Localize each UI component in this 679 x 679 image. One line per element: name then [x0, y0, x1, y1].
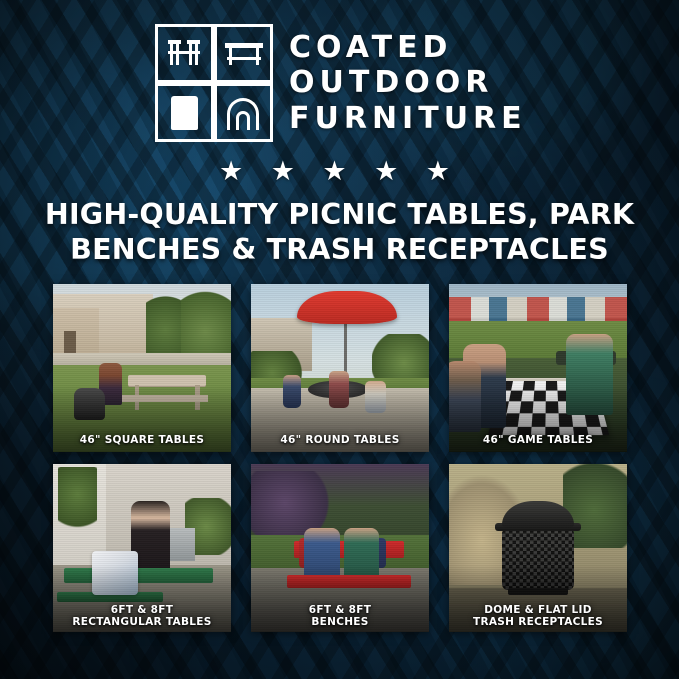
gallery-caption-line-1: 6FT & 8FT [255, 604, 425, 616]
headline-line-2: BENCHES & TRASH RECEPTACLES [0, 233, 679, 268]
brand-name-line-2: OUTDOOR [289, 65, 527, 100]
gallery-item-square-tables[interactable]: 46" SQUARE TABLES [53, 284, 231, 452]
gallery-item-game-tables[interactable]: 46" GAME TABLES [449, 284, 627, 452]
gallery-caption-line-1: DOME & FLAT LID [453, 604, 623, 616]
brand-logo: COATED OUTDOOR FURNITURE [155, 24, 535, 144]
trash-receptacle-icon [171, 96, 198, 130]
picnic-table-icon [225, 40, 263, 68]
photo-square-tables [53, 284, 231, 452]
gallery-caption: 6FT & 8FT RECTANGULAR TABLES [53, 604, 231, 628]
gallery-item-trash-receptacles[interactable]: DOME & FLAT LID TRASH RECEPTACLES [449, 464, 627, 632]
marketing-poster: COATED OUTDOOR FURNITURE ★ ★ ★ ★ ★ HIGH-… [0, 0, 679, 679]
poster-content: COATED OUTDOOR FURNITURE ★ ★ ★ ★ ★ HIGH-… [0, 0, 679, 679]
photo-game-tables [449, 284, 627, 452]
headline: HIGH-QUALITY PICNIC TABLES, PARK BENCHES… [0, 198, 679, 268]
product-gallery: 46" SQUARE TABLES [53, 284, 627, 632]
brand-wordmark: COATED OUTDOOR FURNITURE [289, 24, 527, 136]
photo-round-tables [251, 284, 429, 452]
gallery-caption: 6FT & 8FT BENCHES [251, 604, 429, 628]
gallery-caption: 46" GAME TABLES [449, 434, 627, 446]
brand-name-line-3: FURNITURE [289, 101, 527, 136]
dome-lid-icon [227, 98, 259, 130]
gallery-caption: 46" SQUARE TABLES [53, 434, 231, 446]
star-rating: ★ ★ ★ ★ ★ [0, 158, 679, 185]
gallery-caption-line-2: TRASH RECEPTACLES [453, 616, 623, 628]
brand-name-line-1: COATED [289, 30, 527, 65]
gallery-caption: 46" ROUND TABLES [251, 434, 429, 446]
gallery-item-benches[interactable]: 6FT & 8FT BENCHES [251, 464, 429, 632]
gallery-item-round-tables[interactable]: 46" ROUND TABLES [251, 284, 429, 452]
gallery-caption-line-2: BENCHES [255, 616, 425, 628]
bench-icon [167, 38, 201, 68]
gallery-caption-line-2: RECTANGULAR TABLES [57, 616, 227, 628]
gallery-caption-line-1: 6FT & 8FT [57, 604, 227, 616]
headline-line-1: HIGH-QUALITY PICNIC TABLES, PARK [0, 198, 679, 233]
gallery-item-rectangular-tables[interactable]: 6FT & 8FT RECTANGULAR TABLES [53, 464, 231, 632]
logo-mark [155, 24, 273, 142]
gallery-caption: DOME & FLAT LID TRASH RECEPTACLES [449, 604, 627, 628]
